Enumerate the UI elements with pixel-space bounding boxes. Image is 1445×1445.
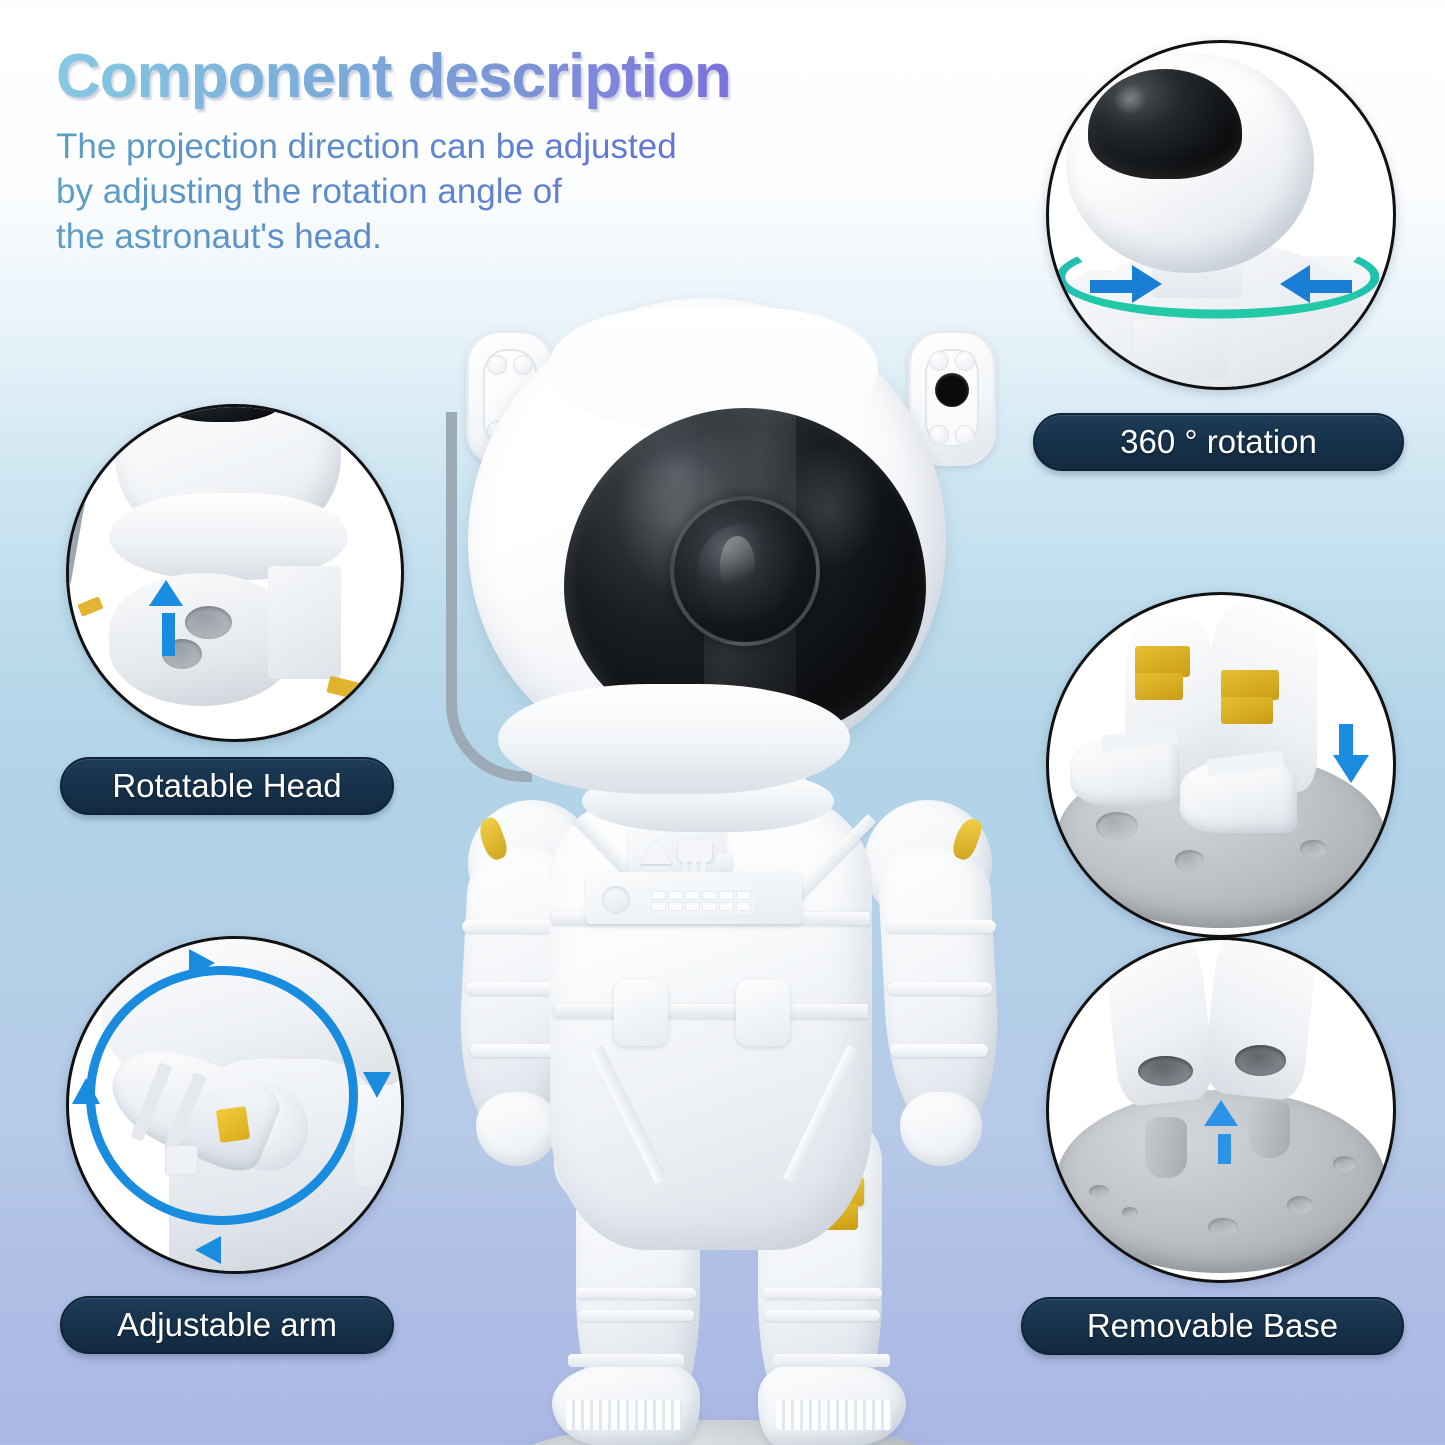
vent-cell bbox=[736, 891, 751, 900]
yellow-leg-band-right bbox=[1221, 670, 1279, 701]
rect-button-icon bbox=[678, 840, 712, 862]
subtitle-line-1: The projection direction can be adjusted bbox=[56, 125, 1046, 170]
vent-cell bbox=[668, 902, 683, 911]
up-arrow-shaft bbox=[162, 613, 175, 656]
inset-360-rotation-art bbox=[1049, 43, 1393, 387]
vent-cell bbox=[719, 902, 734, 911]
triangle-button-icon bbox=[640, 838, 672, 864]
vent-grid-icon bbox=[648, 888, 754, 914]
screw bbox=[955, 425, 975, 445]
chest-panel-partial bbox=[1132, 318, 1228, 380]
screw bbox=[513, 355, 533, 375]
yellow-accent-left bbox=[77, 596, 104, 617]
boot-ribs-left bbox=[566, 1400, 682, 1430]
vent-cell bbox=[685, 891, 700, 900]
screw bbox=[955, 351, 975, 371]
down-arrow-shaft bbox=[1339, 724, 1353, 758]
inset-adjustable-arm-art bbox=[69, 939, 401, 1271]
arm-ring-right-1 bbox=[886, 920, 996, 933]
inset-adjustable-arm bbox=[66, 936, 404, 1274]
subtitle-line-3: the astronaut's head. bbox=[56, 215, 1046, 260]
base-peg-left bbox=[1145, 1117, 1186, 1178]
subtitle-line-2: by adjusting the rotation angle of bbox=[56, 170, 1046, 215]
ankle-strap-left bbox=[568, 1354, 684, 1367]
hand-left bbox=[476, 1092, 558, 1166]
boot-right-lifted bbox=[1202, 937, 1320, 1101]
crater bbox=[1096, 812, 1139, 840]
vent-cell bbox=[651, 902, 666, 911]
crater bbox=[1300, 840, 1326, 858]
boot-ribs-right bbox=[776, 1400, 892, 1430]
arm-ring-right-3 bbox=[890, 1044, 988, 1057]
up-arrow-icon bbox=[149, 580, 183, 606]
label-adjustable-arm: Adjustable arm bbox=[60, 1296, 394, 1354]
crater bbox=[1175, 850, 1205, 871]
screw bbox=[929, 425, 949, 445]
vent-cell bbox=[668, 891, 683, 900]
vent-cell bbox=[685, 902, 700, 911]
ankle-strap-right bbox=[774, 1354, 890, 1367]
belt-pouch-right bbox=[736, 980, 790, 1046]
neck-socket bbox=[109, 573, 295, 706]
inset-removable-base bbox=[1046, 937, 1396, 1283]
inset-360-rotation bbox=[1046, 40, 1396, 390]
vent-cell bbox=[702, 891, 717, 900]
vent-cell bbox=[702, 902, 717, 911]
sensor-icon bbox=[935, 373, 969, 407]
yellow-leg-band-right-2 bbox=[1221, 697, 1273, 724]
hand-right bbox=[900, 1092, 982, 1166]
helmet-rim bbox=[498, 684, 850, 794]
leg-ring-right-2 bbox=[764, 1310, 880, 1321]
leg-ring-left bbox=[576, 1288, 696, 1299]
yellow-accent-right bbox=[326, 676, 359, 699]
boot-socket-hole-right bbox=[1235, 1045, 1287, 1076]
label-rotatable-head: Rotatable Head bbox=[60, 757, 394, 815]
base-peg-right bbox=[1249, 1100, 1290, 1158]
page-title: Component description bbox=[56, 44, 1046, 109]
lunar-base bbox=[442, 1420, 1008, 1445]
circular-rotation-arrows-icon bbox=[86, 966, 358, 1225]
up-arrow-shaft bbox=[1218, 1134, 1231, 1165]
crater bbox=[1208, 1218, 1238, 1236]
arrow-head-bottom-icon bbox=[195, 1236, 221, 1264]
inset-rotatable-head-art bbox=[69, 407, 401, 739]
belt-pouch-left bbox=[614, 980, 668, 1046]
dark-visor bbox=[156, 404, 287, 422]
arm-ring-right-2 bbox=[888, 982, 992, 995]
power-button-icon bbox=[602, 886, 630, 914]
inset-rotatable-head bbox=[66, 404, 404, 742]
header-block: Component description The projection dir… bbox=[56, 44, 1046, 259]
vent-cell bbox=[736, 902, 751, 911]
visor-highlight bbox=[1109, 79, 1151, 120]
yellow-leg-band-left bbox=[1135, 646, 1190, 677]
crater bbox=[1333, 1156, 1356, 1173]
up-arrow-icon bbox=[1204, 1100, 1238, 1126]
screw bbox=[929, 351, 949, 371]
side-panel bbox=[355, 1085, 404, 1185]
lens-highlight bbox=[720, 536, 755, 596]
rotation-arc-icon bbox=[1056, 236, 1379, 319]
leg-ring-left-2 bbox=[578, 1310, 694, 1321]
vent-cell bbox=[719, 891, 734, 900]
arrow-right-shaft bbox=[1090, 280, 1138, 293]
inset-feet-on-base bbox=[1046, 592, 1396, 938]
arrow-head-left-icon bbox=[72, 1078, 100, 1104]
astronaut-projector-figure bbox=[432, 292, 1018, 1337]
screw bbox=[487, 355, 507, 375]
arrow-head-top-icon bbox=[189, 949, 215, 977]
yellow-leg-band-left-2 bbox=[1135, 673, 1183, 700]
socket-hole-1 bbox=[185, 606, 231, 639]
belt-lower bbox=[554, 1004, 868, 1018]
projector-lens bbox=[697, 523, 793, 619]
inset-feet-on-base-art bbox=[1049, 595, 1393, 935]
panel-knob bbox=[716, 854, 734, 872]
crater bbox=[1287, 1196, 1313, 1214]
vent-cell bbox=[651, 891, 666, 900]
label-removable-base: Removable Base bbox=[1021, 1297, 1404, 1355]
subtitle-block: The projection direction can be adjusted… bbox=[56, 125, 1046, 259]
leg-ring-right bbox=[762, 1288, 882, 1299]
body-block bbox=[268, 566, 341, 679]
down-arrow-icon bbox=[1333, 755, 1369, 783]
dark-visor bbox=[1088, 69, 1242, 179]
arrow-head-right-icon bbox=[363, 1072, 391, 1098]
projector-lens-ring bbox=[670, 496, 820, 646]
arrow-left-shaft bbox=[1304, 280, 1352, 293]
inset-removable-base-art bbox=[1049, 940, 1393, 1280]
crater bbox=[1089, 1185, 1109, 1198]
crater bbox=[1122, 1207, 1139, 1218]
label-360-rotation: 360 ° rotation bbox=[1033, 413, 1404, 471]
